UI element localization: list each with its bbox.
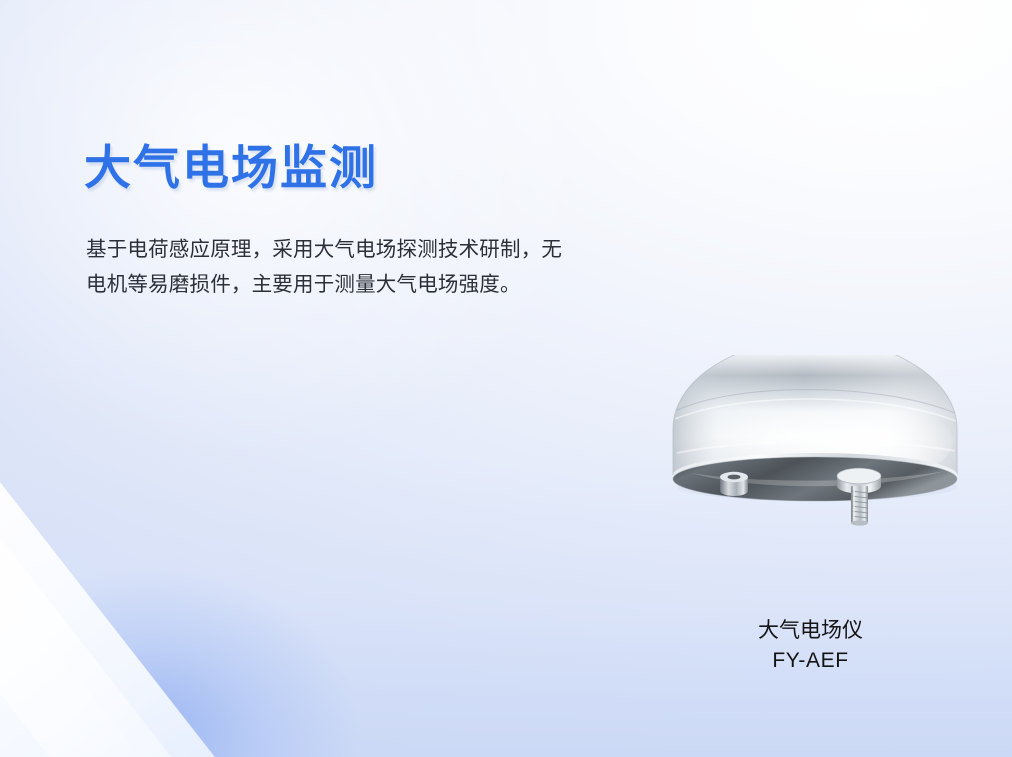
product-name: 大气电场仪: [673, 616, 948, 646]
page-title: 大气电场监测: [84, 129, 378, 198]
decorative-blue-pool: [0, 567, 360, 757]
decorative-capsule-stripe: [0, 400, 471, 757]
product-model: FY-AEF: [673, 646, 948, 676]
product-caption: 大气电场仪 FY-AEF: [673, 616, 948, 676]
atmospheric-field-sensor-icon: [665, 355, 965, 540]
product-image: [665, 355, 965, 540]
product-slide: 大气电场监测 基于电荷感应原理，采用大气电场探测技术研制，无电机等易磨损件，主要…: [0, 0, 1012, 757]
background-topleft-highlight: [0, 0, 600, 460]
decorative-capsule-back: [0, 305, 401, 757]
description-paragraph: 基于电荷感应原理，采用大气电场探测技术研制，无电机等易磨损件，主要用于测量大气电…: [86, 232, 578, 302]
decorative-capsule-main: [0, 341, 493, 757]
sensor-stud: [720, 472, 748, 496]
